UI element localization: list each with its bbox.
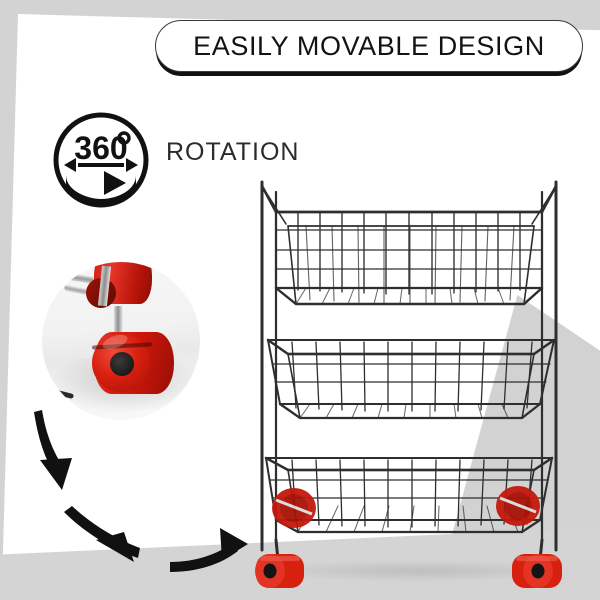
caster-wheel-front-left <box>255 554 304 588</box>
headline-pill: EASILY MOVABLE DESIGN <box>155 20 583 72</box>
caster-wheel-closeup <box>42 262 200 420</box>
three-tier-wire-trolley-cart <box>246 168 586 588</box>
front-caster-hub <box>110 352 134 376</box>
caster-wheel-rear-right <box>496 486 540 526</box>
basket-middle <box>268 340 554 418</box>
curved-motion-arrows <box>12 402 262 587</box>
rotation-label: ROTATION <box>166 138 299 167</box>
caster-wheel-rear-left <box>272 488 316 528</box>
caster-wheel-front-right <box>512 554 562 588</box>
360-rotation-icon: 360 <box>52 111 150 209</box>
basket-top <box>262 186 556 304</box>
headline-text: EASILY MOVABLE DESIGN <box>193 31 545 62</box>
product-feature-graphic: EASILY MOVABLE DESIGN 360 ROTATION <box>0 0 600 600</box>
caster-wheels <box>255 486 562 588</box>
